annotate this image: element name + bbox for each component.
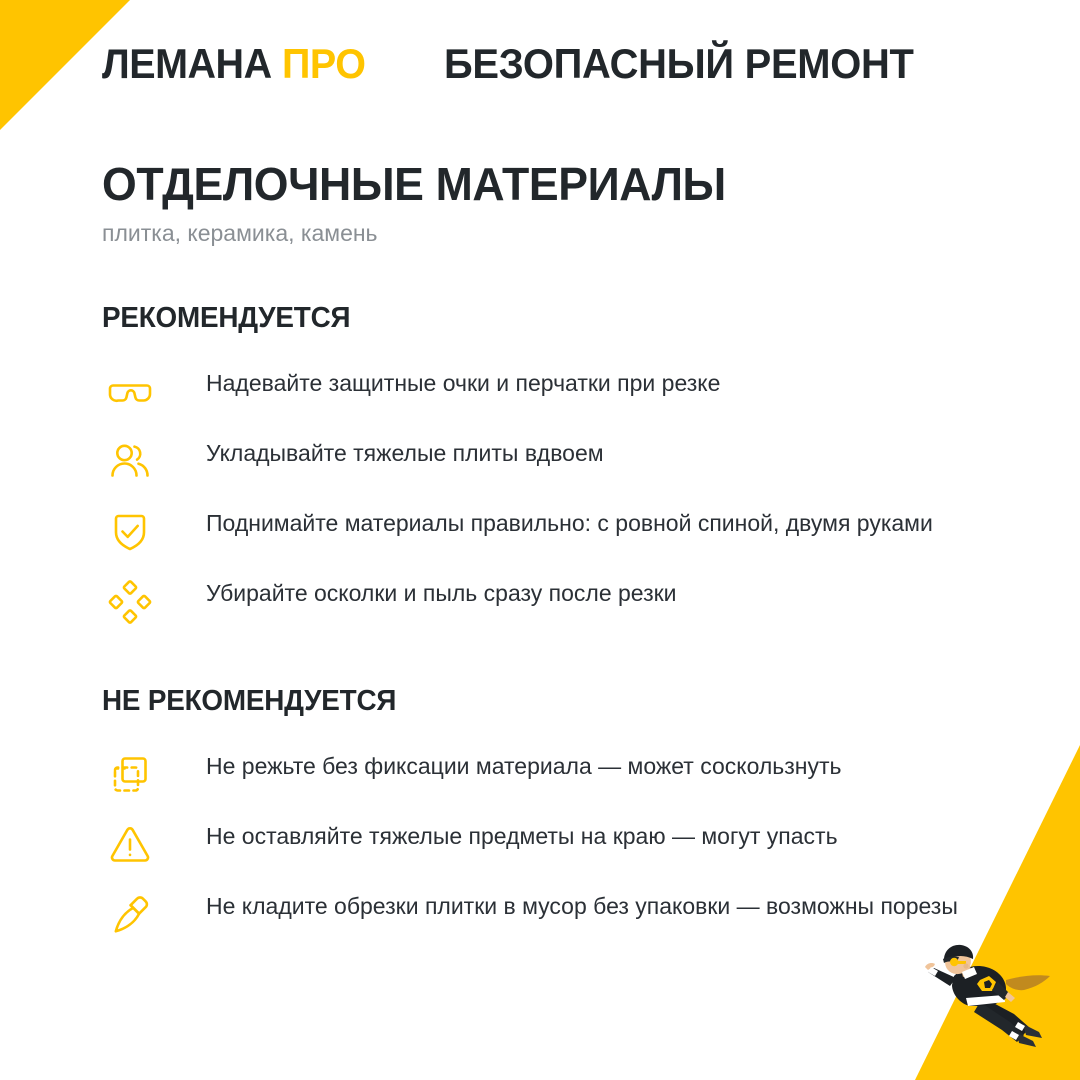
safety-goggles-icon (102, 369, 158, 415)
mascot-flying-superhero (918, 936, 1068, 1056)
list-item: Надевайте защитные очки и перчатки при р… (102, 367, 982, 415)
list-item: Не оставляйте тяжелые предметы на краю —… (102, 820, 982, 868)
list-item: Не кладите обрезки плитки в мусор без уп… (102, 890, 982, 938)
main-content: ОТДЕЛОЧНЫЕ МАТЕРИАЛЫ плитка, керамика, к… (102, 160, 982, 938)
four-diamonds-icon (102, 579, 158, 625)
knife-blade-icon (102, 892, 158, 938)
section-heading-not-recommended: НЕ РЕКОМЕНДУЕТСЯ (102, 687, 947, 716)
list-item: Не режьте без фиксации материала — может… (102, 750, 982, 798)
unfixed-square-icon (102, 752, 158, 798)
list-item-text: Укладывайте тяжелые плиты вдвоем (206, 437, 604, 470)
list-item-text: Не кладите обрезки плитки в мусор без уп… (206, 890, 958, 923)
section-heading-recommended: РЕКОМЕНДУЕТСЯ (102, 304, 947, 333)
page-title: ОТДЕЛОЧНЫЕ МАТЕРИАЛЫ (102, 160, 956, 208)
section-recommended: РЕКОМЕНДУЕТСЯ Надевайте защитные очки и … (102, 304, 982, 625)
list-item-text: Не режьте без фиксации материала — может… (206, 750, 842, 783)
brand-logo: ЛЕМАНАПРО (102, 43, 365, 85)
recommended-list: Надевайте защитные очки и перчатки при р… (102, 367, 982, 625)
list-item-text: Убирайте осколки и пыль сразу после резк… (206, 577, 677, 610)
section-not-recommended: НЕ РЕКОМЕНДУЕТСЯ Не режьте без фиксации … (102, 687, 982, 938)
list-item: Убирайте осколки и пыль сразу после резк… (102, 577, 982, 625)
list-item-text: Не оставляйте тяжелые предметы на краю —… (206, 820, 838, 853)
list-item: Укладывайте тяжелые плиты вдвоем (102, 437, 982, 485)
brand-logo-main: ЛЕМАНА (102, 43, 272, 85)
brand-logo-accent: ПРО (282, 43, 365, 85)
list-item-text: Поднимайте материалы правильно: с ровной… (206, 507, 933, 540)
two-people-icon (102, 439, 158, 485)
header: ЛЕМАНАПРО БЕЗОПАСНЫЙ РЕМОНТ (0, 0, 1080, 128)
shield-check-icon (102, 509, 158, 555)
page-subtitle: плитка, керамика, камень (102, 220, 982, 248)
warning-triangle-icon (102, 822, 158, 868)
not-recommended-list: Не режьте без фиксации материала — может… (102, 750, 982, 938)
header-tagline: БЕЗОПАСНЫЙ РЕМОНТ (444, 43, 914, 85)
list-item-text: Надевайте защитные очки и перчатки при р… (206, 367, 720, 400)
list-item: Поднимайте материалы правильно: с ровной… (102, 507, 982, 555)
